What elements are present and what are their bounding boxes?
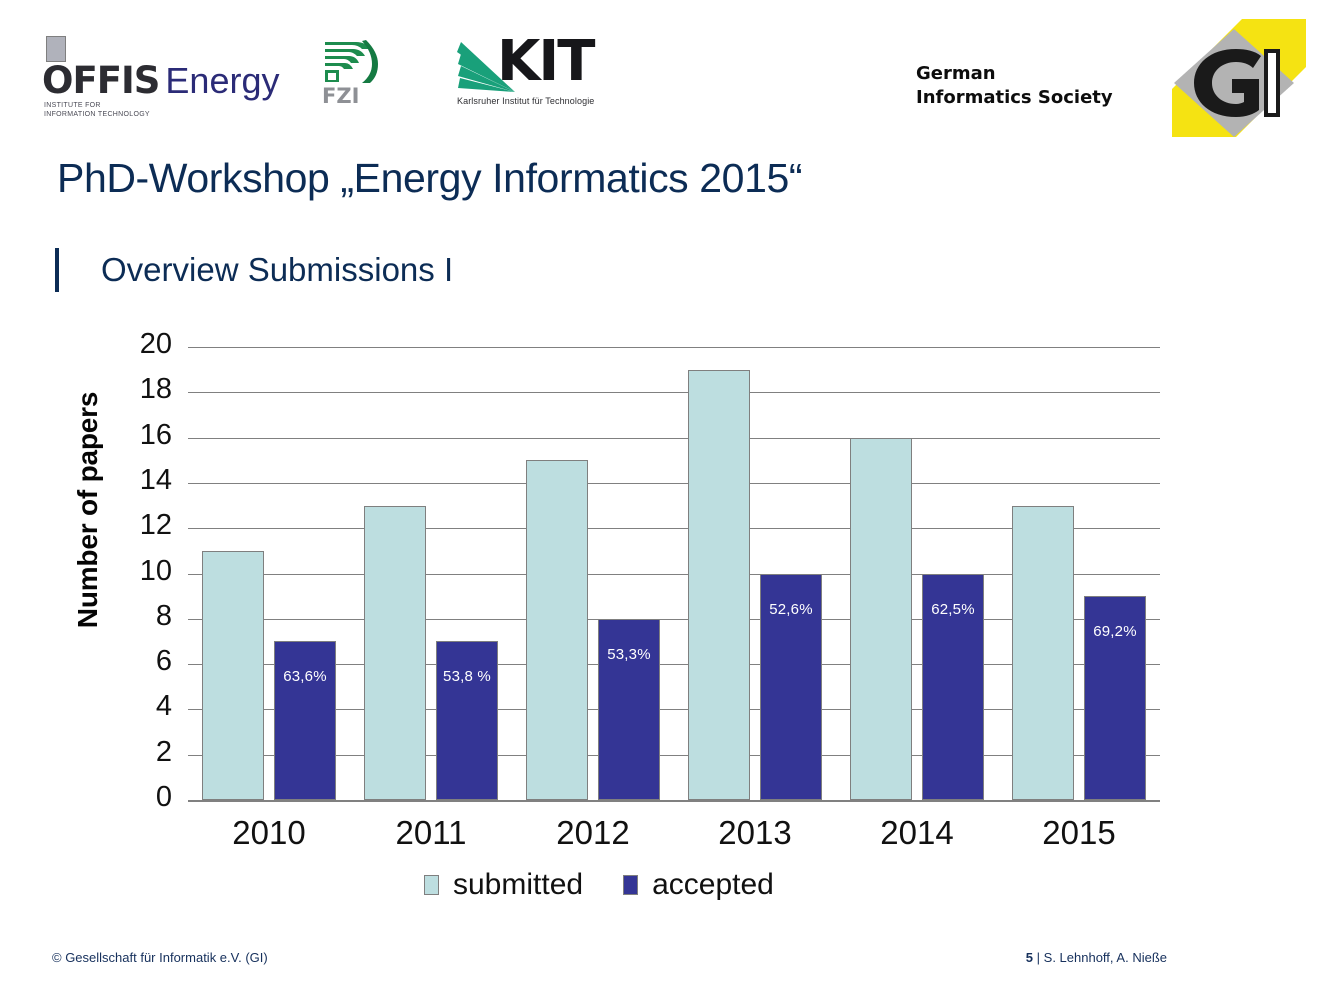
y-axis-title: Number of papers (72, 380, 104, 640)
bar-submitted-2012 (526, 460, 588, 800)
bar-accepted-2015: 69,2% (1084, 596, 1146, 800)
y-tick-label: 8 (110, 600, 172, 633)
y-tick-label: 6 (110, 645, 172, 678)
footer-page-info: 5 | S. Lehnhoff, A. Nieße (1026, 950, 1167, 965)
legend-swatch-submitted (424, 875, 439, 895)
bar-accepted-2013: 52,6% (760, 574, 822, 801)
footer-copyright: © Gesellschaft für Informatik e.V. (GI) (52, 950, 268, 965)
bar-accepted-2010: 63,6% (274, 641, 336, 800)
legend-entry-submitted[interactable]: submitted (424, 868, 583, 902)
bar-submitted-2010 (202, 551, 264, 800)
bar-chart: Number of papers 02468101214161820 63,6%… (0, 0, 1330, 998)
gridline (188, 483, 1160, 484)
y-tick-label: 12 (110, 509, 172, 542)
x-axis-line (188, 800, 1160, 802)
x-tick-label-2010: 2010 (184, 814, 354, 852)
legend-swatch-accepted (623, 875, 638, 895)
footer-page-number: 5 (1026, 950, 1033, 965)
y-tick-label: 18 (110, 373, 172, 406)
bar-submitted-2013 (688, 370, 750, 800)
y-tick-label: 2 (110, 736, 172, 769)
y-tick-label: 16 (110, 419, 172, 452)
gridline (188, 347, 1160, 348)
y-tick-label: 0 (110, 781, 172, 814)
bar-submitted-2011 (364, 506, 426, 800)
footer-authors: S. Lehnhoff, A. Nieße (1044, 950, 1167, 965)
x-tick-label-2013: 2013 (670, 814, 840, 852)
bar-submitted-2015 (1012, 506, 1074, 800)
bar-accepted-2014: 62,5% (922, 574, 984, 801)
x-tick-label-2014: 2014 (832, 814, 1002, 852)
bar-accepted-2012: 53,3% (598, 619, 660, 800)
legend-entry-accepted[interactable]: accepted (623, 868, 774, 902)
bar-value-label: 53,3% (599, 646, 659, 663)
y-tick-label: 14 (110, 464, 172, 497)
bar-value-label: 62,5% (923, 601, 983, 618)
x-tick-label-2015: 2015 (994, 814, 1164, 852)
bar-value-label: 69,2% (1085, 623, 1145, 640)
bar-accepted-2011: 53,8 % (436, 641, 498, 800)
legend-label-submitted: submitted (453, 868, 583, 902)
bar-value-label: 52,6% (761, 601, 821, 618)
bar-submitted-2014 (850, 438, 912, 800)
y-tick-label: 20 (110, 328, 172, 361)
footer-separator: | (1037, 950, 1040, 965)
gridline (188, 438, 1160, 439)
gridline (188, 392, 1160, 393)
y-tick-label: 10 (110, 555, 172, 588)
x-tick-label-2011: 2011 (346, 814, 516, 852)
bar-value-label: 53,8 % (437, 668, 497, 685)
bar-value-label: 63,6% (275, 668, 335, 685)
y-tick-label: 4 (110, 690, 172, 723)
chart-legend: submittedaccepted (424, 868, 774, 902)
x-tick-label-2012: 2012 (508, 814, 678, 852)
legend-label-accepted: accepted (652, 868, 774, 902)
